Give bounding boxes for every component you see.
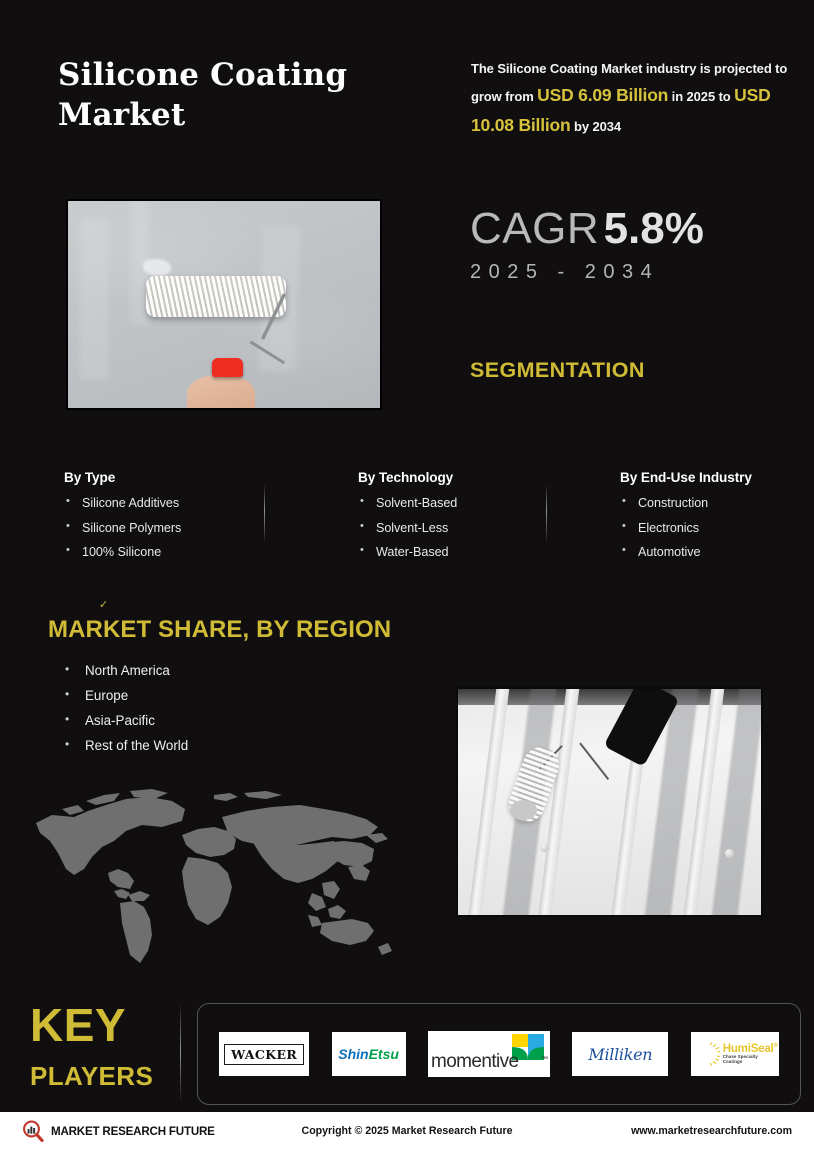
footer: MARKET RESEARCH FUTURE Copyright © 2025 …: [0, 1112, 814, 1150]
list-item: Electronics: [620, 522, 810, 535]
column-title: By Technology: [358, 470, 548, 485]
logo-milliken-text: Milliken: [588, 1045, 652, 1064]
key-players-divider: [180, 1002, 181, 1104]
list-item: Europe: [62, 689, 188, 702]
cagr-value: 5.8%: [604, 204, 704, 253]
wall-streak: [80, 218, 108, 379]
logo-momentive-tm: ™: [541, 1056, 548, 1063]
list-item: Construction: [620, 497, 810, 510]
footer-brand-name: MARKET RESEARCH FUTURE: [51, 1125, 215, 1138]
market-projection-text: The Silicone Coating Market industry is …: [471, 57, 801, 141]
list-item: Solvent-Less: [358, 522, 548, 535]
market-share-heading: MARKET SHARE, BY REGION: [48, 616, 391, 644]
list-item: Water-Based: [358, 546, 548, 559]
region-list: North America Europe Asia-Pacific Rest o…: [62, 664, 188, 764]
segmentation-heading: SEGMENTATION: [470, 358, 645, 383]
cagr-years: 2025 - 2034: [470, 261, 704, 284]
segmentation-columns: By Type Silicone Additives Silicone Poly…: [0, 470, 814, 570]
logo-humiseal-tagline: Chase Specialty Coatings: [723, 1055, 779, 1064]
logo-humiseal[interactable]: HumiSeal® Chase Specialty Coatings: [691, 1032, 779, 1076]
cagr-block: CAGR 5.8% 2025 - 2034: [470, 204, 704, 284]
wall-paint-patch: [143, 259, 171, 276]
list-item: 100% Silicone: [64, 546, 264, 559]
list-item: North America: [62, 664, 188, 677]
paint-roller-wall-image: [66, 199, 382, 410]
logo-wacker[interactable]: WACKER: [219, 1032, 309, 1076]
footer-brand[interactable]: MARKET RESEARCH FUTURE: [22, 1120, 215, 1142]
checkmark-icon: ✓: [99, 600, 108, 607]
world-map: [22, 783, 412, 973]
segmentation-column-by-end-use-industry: By End-Use Industry Construction Electro…: [620, 470, 810, 571]
intro-part-3: by 2034: [571, 119, 622, 134]
roller-handle: [212, 358, 243, 377]
logo-shin-etsu[interactable]: ShinEtsu: [332, 1032, 406, 1076]
market-research-future-logo-icon: [22, 1120, 44, 1142]
logo-humiseal-text-group: HumiSeal® Chase Specialty Coatings: [723, 1043, 779, 1064]
list-item: Asia-Pacific: [62, 714, 188, 727]
intro-part-2: in 2025 to: [668, 89, 734, 104]
column-title: By Type: [64, 470, 264, 485]
list-item: Automotive: [620, 546, 810, 559]
roller-rod: [579, 742, 609, 780]
segmentation-column-by-technology: By Technology Solvent-Based Solvent-Less…: [358, 470, 548, 571]
infographic-canvas: Silicone Coating Market The Silicone Coa…: [0, 0, 814, 1150]
segmentation-column-by-type: By Type Silicone Additives Silicone Poly…: [64, 470, 264, 571]
page-title: Silicone Coating Market: [58, 56, 418, 136]
logo-momentive[interactable]: momentive™: [428, 1031, 550, 1077]
roof-screw: [540, 843, 549, 852]
logo-wacker-text: WACKER: [224, 1044, 304, 1065]
key-players-logo-container: WACKER ShinEtsu momentive™ Milliken: [197, 1003, 801, 1105]
roof-rib: [466, 687, 511, 917]
list-item: Rest of the World: [62, 739, 188, 752]
roof-coating-image: [456, 687, 763, 917]
humiseal-sunburst-icon: [696, 1042, 720, 1066]
logo-momentive-text: momentive: [431, 1051, 519, 1073]
column-list: Silicone Additives Silicone Polymers 100…: [64, 497, 264, 559]
list-item: Solvent-Based: [358, 497, 548, 510]
roller-cap: [510, 800, 537, 820]
logo-shin-etsu-text-a: Shin: [338, 1046, 368, 1062]
intro-value-from: USD 6.09 Billion: [537, 85, 668, 105]
key-players-players-label: PLAYERS: [30, 1063, 153, 1089]
cagr-line: CAGR 5.8%: [470, 204, 704, 254]
hand: [187, 375, 256, 410]
footer-copyright: Copyright © 2025 Market Research Future: [302, 1125, 513, 1137]
column-list: Construction Electronics Automotive: [620, 497, 810, 559]
logo-shin-etsu-text-b: Etsu: [369, 1046, 399, 1062]
logo-humiseal-reg: ®: [774, 1044, 778, 1050]
cagr-label: CAGR: [470, 204, 599, 253]
key-players-key-label: KEY: [30, 1002, 126, 1048]
column-title: By End-Use Industry: [620, 470, 810, 485]
column-list: Solvent-Based Solvent-Less Water-Based: [358, 497, 548, 559]
list-item: Silicone Additives: [64, 497, 264, 510]
roller-sleeve: [146, 276, 286, 317]
logo-milliken[interactable]: Milliken: [572, 1032, 668, 1076]
footer-website[interactable]: www.marketresearchfuture.com: [631, 1125, 792, 1137]
list-item: Silicone Polymers: [64, 522, 264, 535]
